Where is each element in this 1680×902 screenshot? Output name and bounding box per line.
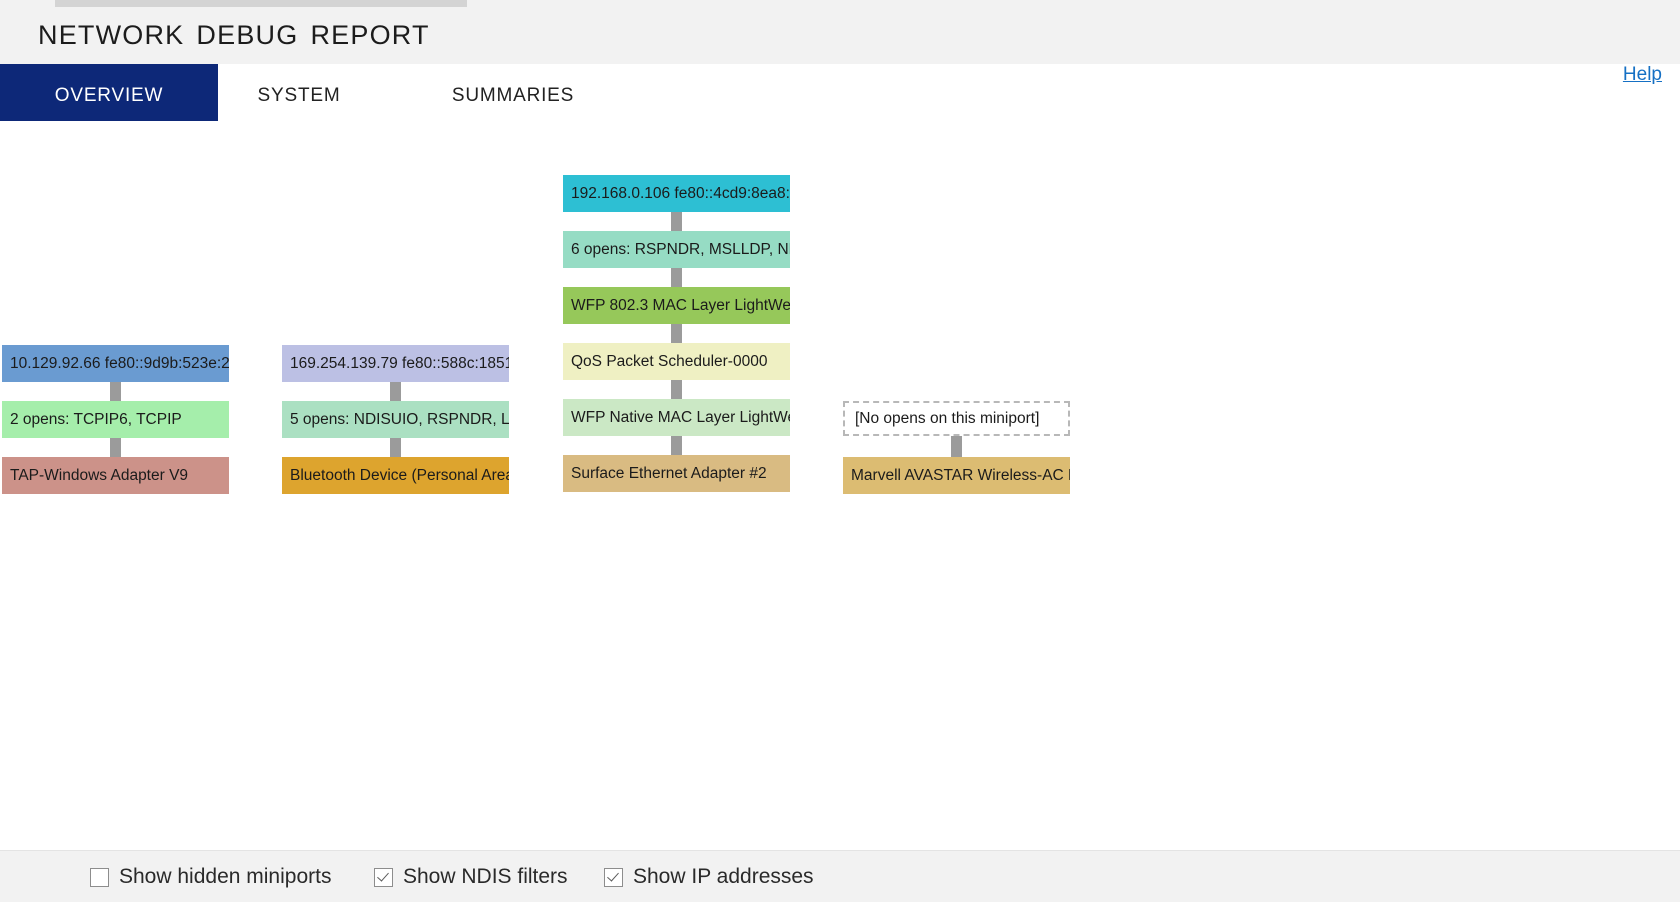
stack-node-adapter[interactable]: Surface Ethernet Adapter #2 [563,455,790,492]
stack-connector [671,266,682,289]
stack-node-filter[interactable]: QoS Packet Scheduler-0000 [563,343,790,380]
tab-bar: Overview System Summaries [0,64,1680,121]
options-footer: Show hidden miniports Show NDIS filters … [0,850,1680,902]
checkbox-box-show-ip-addresses[interactable] [604,868,623,887]
stack-connector [390,436,401,459]
page-title: Network Debug Report [38,10,430,54]
stack-connector [110,436,121,459]
checkbox-label-show-ip-addresses: Show IP addresses [633,865,814,889]
stack-node-filter[interactable]: WFP Native MAC Layer LightWeight [563,399,790,436]
app-header: Network Debug Report [0,8,1680,64]
stack-node-adapter[interactable]: Marvell AVASTAR Wireless-AC Netw [843,457,1070,494]
stack-node-opens[interactable]: 5 opens: NDISUIO, RSPNDR, LLTDIO, [282,401,509,438]
stack-node-adapter[interactable]: TAP-Windows Adapter V9 [2,457,229,494]
checkbox-show-ip-addresses[interactable]: Show IP addresses [604,851,814,902]
stack-node-opens[interactable]: 6 opens: RSPNDR, MSLLDP, NDISUIO [563,231,790,268]
checkbox-label-show-hidden-miniports: Show hidden miniports [119,865,331,889]
horizontal-scrollbar-thumb[interactable] [55,0,467,7]
stack-connector [671,378,682,401]
stack-connector [110,380,121,403]
checkbox-box-show-ndis-filters[interactable] [374,868,393,887]
network-debug-report-window: Network Debug Report Overview System Sum… [0,0,1680,902]
stack-node-ip[interactable]: 192.168.0.106 fe80::4cd9:8ea8:2bc0:e [563,175,790,212]
window-top-scroll-strip [0,0,1680,8]
stack-connector [671,322,682,345]
checkbox-show-ndis-filters[interactable]: Show NDIS filters [374,851,568,902]
stack-connector [951,436,962,459]
stack-connector [671,434,682,457]
stack-node-filter[interactable]: WFP 802.3 MAC Layer LightWeight Fi [563,287,790,324]
help-link[interactable]: Help [1623,64,1662,86]
stack-node-adapter[interactable]: Bluetooth Device (Personal Area Net [282,457,509,494]
stack-node-no-opens[interactable]: [No opens on this miniport] [843,401,1070,436]
stack-node-opens[interactable]: 2 opens: TCPIP6, TCPIP [2,401,229,438]
network-stack-diagram: 10.129.92.66 fe80::9d9b:523e:2d70:22 ope… [0,121,1680,850]
checkbox-label-show-ndis-filters: Show NDIS filters [403,865,568,889]
tab-summaries[interactable]: Summaries [428,64,598,121]
stack-node-ip[interactable]: 10.129.92.66 fe80::9d9b:523e:2d70:2 [2,345,229,382]
checkbox-show-hidden-miniports[interactable]: Show hidden miniports [90,851,331,902]
stack-node-ip[interactable]: 169.254.139.79 fe80::588c:1851:f711: [282,345,509,382]
stack-connector [671,210,682,233]
tab-overview[interactable]: Overview [0,64,218,121]
checkbox-box-show-hidden-miniports[interactable] [90,868,109,887]
stack-connector [390,380,401,403]
tab-system[interactable]: System [240,64,358,121]
